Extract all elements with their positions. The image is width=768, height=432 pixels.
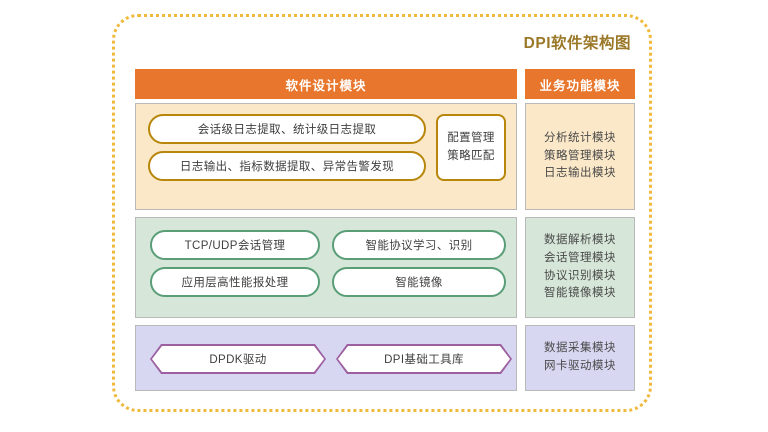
item-dpdk-driver[interactable]: DPDK驱动: [150, 344, 326, 374]
item-config-management-policy-match[interactable]: 配置管理 策略匹配: [436, 114, 506, 181]
item-session-and-statistic-log-extract[interactable]: 会话级日志提取、统计级日志提取: [148, 114, 426, 144]
business-module-item: 分析统计模块: [544, 130, 616, 148]
item-tcp-udp-session-management[interactable]: TCP/UDP会话管理: [150, 230, 320, 260]
business-module-item: 智能镜像模块: [544, 285, 616, 303]
header-software-design-modules: 软件设计模块: [135, 69, 517, 99]
business-module-item: 数据解析模块: [544, 232, 616, 250]
business-module-item: 策略管理模块: [544, 148, 616, 166]
item-dpi-base-toolkit[interactable]: DPI基础工具库: [336, 344, 512, 374]
item-application-layer-high-performance-processing[interactable]: 应用层高性能报处理: [150, 267, 320, 297]
item-log-output-metric-extract-alarm[interactable]: 日志输出、指标数据提取、异常告警发现: [148, 151, 426, 181]
business-modules-application-layer: 分析统计模块 策略管理模块 日志输出模块: [526, 104, 634, 209]
item-label: TCP/UDP会话管理: [185, 237, 286, 253]
item-intelligent-protocol-learning-recognition[interactable]: 智能协议学习、识别: [332, 230, 506, 260]
hex-face: DPDK驱动: [152, 346, 324, 372]
item-label: 会话级日志提取、统计级日志提取: [198, 121, 377, 137]
config-line-2: 策略匹配: [447, 148, 495, 165]
diagram-title: DPI软件架构图: [524, 31, 631, 53]
panel-protocol-layer-left: TCP/UDP会话管理 应用层高性能报处理 智能协议学习、识别 智能镜像: [135, 217, 517, 318]
hex-border: DPI基础工具库: [336, 344, 512, 374]
business-module-item: 会话管理模块: [544, 250, 616, 268]
diagram-frame: DPI软件架构图 软件设计模块 业务功能模块 会话级日志提取、统计级日志提取 日…: [112, 14, 652, 412]
header-left-label: 软件设计模块: [285, 75, 366, 94]
config-line-1: 配置管理: [447, 130, 495, 147]
header-business-function-modules: 业务功能模块: [525, 69, 635, 99]
item-label: 日志输出、指标数据提取、异常告警发现: [180, 158, 394, 174]
item-label: 智能镜像: [395, 274, 443, 290]
business-modules-driver-layer: 数据采集模块 网卡驱动模块: [526, 326, 634, 390]
business-module-item: 数据采集模块: [544, 340, 616, 358]
panel-driver-layer-right: 数据采集模块 网卡驱动模块: [525, 325, 635, 391]
item-intelligent-mirroring[interactable]: 智能镜像: [332, 267, 506, 297]
item-label: DPDK驱动: [209, 351, 266, 367]
business-modules-protocol-layer: 数据解析模块 会话管理模块 协议识别模块 智能镜像模块: [526, 218, 634, 317]
item-label: 应用层高性能报处理: [181, 274, 288, 290]
hex-border: DPDK驱动: [150, 344, 326, 374]
panel-application-layer-right: 分析统计模块 策略管理模块 日志输出模块: [525, 103, 635, 210]
panel-driver-layer-left: DPDK驱动 DPI基础工具库: [135, 325, 517, 391]
item-label: DPI基础工具库: [384, 351, 464, 367]
business-module-item: 协议识别模块: [544, 268, 616, 286]
diagram-canvas: DPI软件架构图 软件设计模块 业务功能模块 会话级日志提取、统计级日志提取 日…: [0, 0, 768, 432]
panel-protocol-layer-right: 数据解析模块 会话管理模块 协议识别模块 智能镜像模块: [525, 217, 635, 318]
hex-face: DPI基础工具库: [338, 346, 510, 372]
item-label: 智能协议学习、识别: [365, 237, 472, 253]
business-module-item: 日志输出模块: [544, 165, 616, 183]
business-module-item: 网卡驱动模块: [544, 358, 616, 376]
header-right-label: 业务功能模块: [539, 75, 620, 94]
panel-application-layer-left: 会话级日志提取、统计级日志提取 日志输出、指标数据提取、异常告警发现 配置管理 …: [135, 103, 517, 210]
